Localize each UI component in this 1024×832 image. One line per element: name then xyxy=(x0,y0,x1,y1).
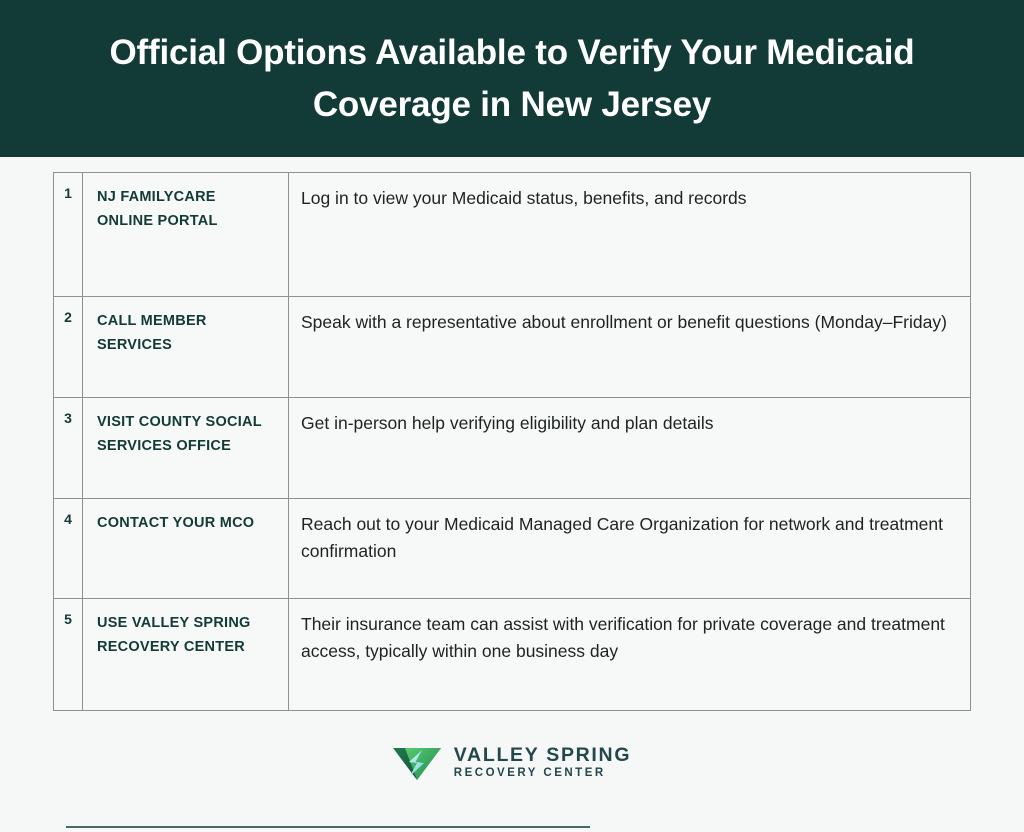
row-description: Reach out to your Medicaid Managed Care … xyxy=(301,514,943,561)
page-title: Official Options Available to Verify You… xyxy=(60,27,964,131)
brand-name-primary: VALLEY SPRING xyxy=(454,745,631,766)
header-banner: Official Options Available to Verify You… xyxy=(0,0,1024,157)
row-description-cell: Their insurance team can assist with ver… xyxy=(289,599,971,711)
row-description: Their insurance team can assist with ver… xyxy=(301,614,945,661)
row-number-cell: 2 xyxy=(54,297,83,398)
row-description-cell: Get in-person help verifying eligibility… xyxy=(289,398,971,499)
row-label-cell: VISIT COUNTY SOCIAL SERVICES OFFICE xyxy=(83,398,289,499)
row-number: 4 xyxy=(64,511,72,527)
row-description-cell: Speak with a representative about enroll… xyxy=(289,297,971,398)
row-label: CALL MEMBER SERVICES xyxy=(97,313,207,353)
row-label-cell: CONTACT YOUR MCO xyxy=(83,499,289,599)
options-table-body: 1 NJ FAMILYCARE ONLINE PORTAL Log in to … xyxy=(54,173,971,711)
row-label-cell: USE VALLEY SPRING RECOVERY CENTER xyxy=(83,599,289,711)
row-number-cell: 1 xyxy=(54,173,83,297)
row-number: 5 xyxy=(64,611,72,627)
row-number: 1 xyxy=(64,185,72,201)
table-row: 5 USE VALLEY SPRING RECOVERY CENTER Thei… xyxy=(54,599,971,711)
row-description: Log in to view your Medicaid status, ben… xyxy=(301,188,747,208)
footer-brand: VALLEY SPRING RECOVERY CENTER xyxy=(0,745,1024,781)
options-table-container: 1 NJ FAMILYCARE ONLINE PORTAL Log in to … xyxy=(53,172,970,710)
row-number-cell: 5 xyxy=(54,599,83,711)
row-label: USE VALLEY SPRING RECOVERY CENTER xyxy=(97,615,251,655)
row-number: 3 xyxy=(64,410,72,426)
bottom-divider xyxy=(66,826,590,828)
valley-spring-chevron-logo-icon xyxy=(393,746,441,780)
row-label-cell: NJ FAMILYCARE ONLINE PORTAL xyxy=(83,173,289,297)
options-table: 1 NJ FAMILYCARE ONLINE PORTAL Log in to … xyxy=(53,172,971,711)
row-description-cell: Reach out to your Medicaid Managed Care … xyxy=(289,499,971,599)
brand-wordmark: VALLEY SPRING RECOVERY CENTER xyxy=(454,745,631,781)
table-row: 3 VISIT COUNTY SOCIAL SERVICES OFFICE Ge… xyxy=(54,398,971,499)
brand-name-secondary: RECOVERY CENTER xyxy=(454,766,631,781)
table-row: 4 CONTACT YOUR MCO Reach out to your Med… xyxy=(54,499,971,599)
row-label: VISIT COUNTY SOCIAL SERVICES OFFICE xyxy=(97,414,262,454)
row-number-cell: 3 xyxy=(54,398,83,499)
table-row: 1 NJ FAMILYCARE ONLINE PORTAL Log in to … xyxy=(54,173,971,297)
row-description: Get in-person help verifying eligibility… xyxy=(301,413,713,433)
row-description: Speak with a representative about enroll… xyxy=(301,312,947,332)
row-number: 2 xyxy=(64,309,72,325)
table-row: 2 CALL MEMBER SERVICES Speak with a repr… xyxy=(54,297,971,398)
row-description-cell: Log in to view your Medicaid status, ben… xyxy=(289,173,971,297)
row-label: CONTACT YOUR MCO xyxy=(97,515,254,531)
row-number-cell: 4 xyxy=(54,499,83,599)
row-label-cell: CALL MEMBER SERVICES xyxy=(83,297,289,398)
row-label: NJ FAMILYCARE ONLINE PORTAL xyxy=(97,189,218,229)
